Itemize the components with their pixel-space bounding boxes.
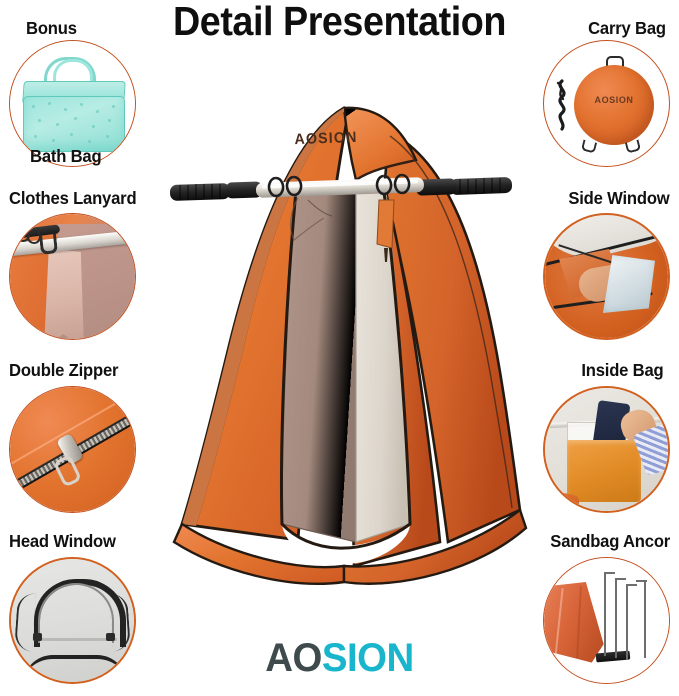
tent-illustration xyxy=(148,72,533,602)
callout-label-head-window: Head Window xyxy=(9,531,116,552)
product-detail-image: Detail Presentation Bonus Bath Bag Cloth… xyxy=(0,0,679,696)
carry-bag-cord-icon xyxy=(552,79,572,131)
callout-label-bonus: Bonus xyxy=(26,18,77,39)
callout-circle-clothes-lanyard xyxy=(9,213,136,340)
double-zipper-photo xyxy=(10,387,135,512)
callout-label-bath-bag: Bath Bag xyxy=(30,146,101,167)
side-window-photo xyxy=(545,215,668,338)
callout-circle-double-zipper xyxy=(9,386,136,513)
callout-label-double-zipper: Double Zipper xyxy=(9,360,118,381)
carry-bag-logo-text: AOSION xyxy=(576,95,652,106)
callout-label-carry-bag: Carry Bag xyxy=(588,18,666,39)
clothes-lanyard-photo xyxy=(10,214,135,339)
callout-circle-inside-bag xyxy=(543,386,670,513)
callout-circle-side-window xyxy=(543,213,670,340)
brand-logo-part-accent: SION xyxy=(322,636,414,680)
callout-circle-carry-bag: AOSION xyxy=(543,40,670,167)
inside-bag-photo xyxy=(545,388,668,511)
carry-bag-photo: AOSION xyxy=(544,41,669,166)
callout-label-sandbag-ancor: Sandbag Ancor xyxy=(550,531,670,552)
callout-label-inside-bag: Inside Bag xyxy=(581,360,663,381)
pop-up-privacy-tent: AOSION xyxy=(148,72,533,602)
callout-label-side-window: Side Window xyxy=(569,188,670,209)
brand-logo-part-dark: AO xyxy=(265,636,322,680)
brand-logo: AOSION xyxy=(14,636,666,681)
page-title: Detail Presentation xyxy=(27,0,652,45)
callout-label-clothes-lanyard: Clothes Lanyard xyxy=(9,188,136,209)
